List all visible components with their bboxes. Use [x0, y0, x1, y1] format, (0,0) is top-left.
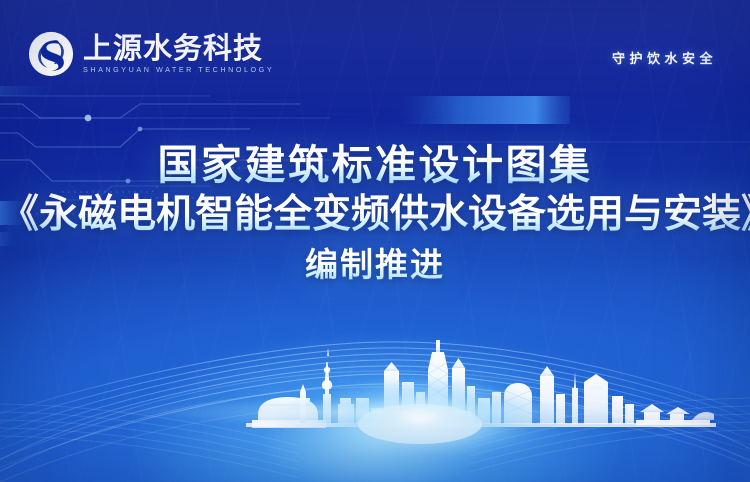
- title-line-1: 国家建筑标准设计图集: [0, 140, 750, 190]
- title-line-3: 编制推进: [0, 242, 750, 288]
- company-logo[interactable]: 上源水务科技 SHANGYUAN WATER TECHNOLOGY: [28, 31, 274, 77]
- poster-header: 上源水务科技 SHANGYUAN WATER TECHNOLOGY 守护饮水安全: [0, 0, 750, 96]
- company-name-en: SHANGYUAN WATER TECHNOLOGY: [83, 65, 274, 75]
- company-name-cn: 上源水务科技: [83, 33, 274, 64]
- header-tagline: 守护饮水安全: [612, 48, 717, 67]
- poster-title-block: 国家建筑标准设计图集 《永磁电机智能全变频供水设备选用与安装》 编制推进: [0, 140, 750, 288]
- water-swirl-circle-logo-icon: [28, 31, 74, 77]
- center-light-core: [358, 404, 482, 444]
- title-line-2: 《永磁电机智能全变频供水设备选用与安装》: [0, 190, 750, 240]
- company-logo-text: 上源水务科技 SHANGYUAN WATER TECHNOLOGY: [83, 33, 274, 75]
- horizon-thin-lines: [0, 96, 750, 142]
- poster-banner: 上源水务科技 SHANGYUAN WATER TECHNOLOGY 守护饮水安全…: [0, 0, 750, 482]
- accent-rect-right: [398, 96, 570, 124]
